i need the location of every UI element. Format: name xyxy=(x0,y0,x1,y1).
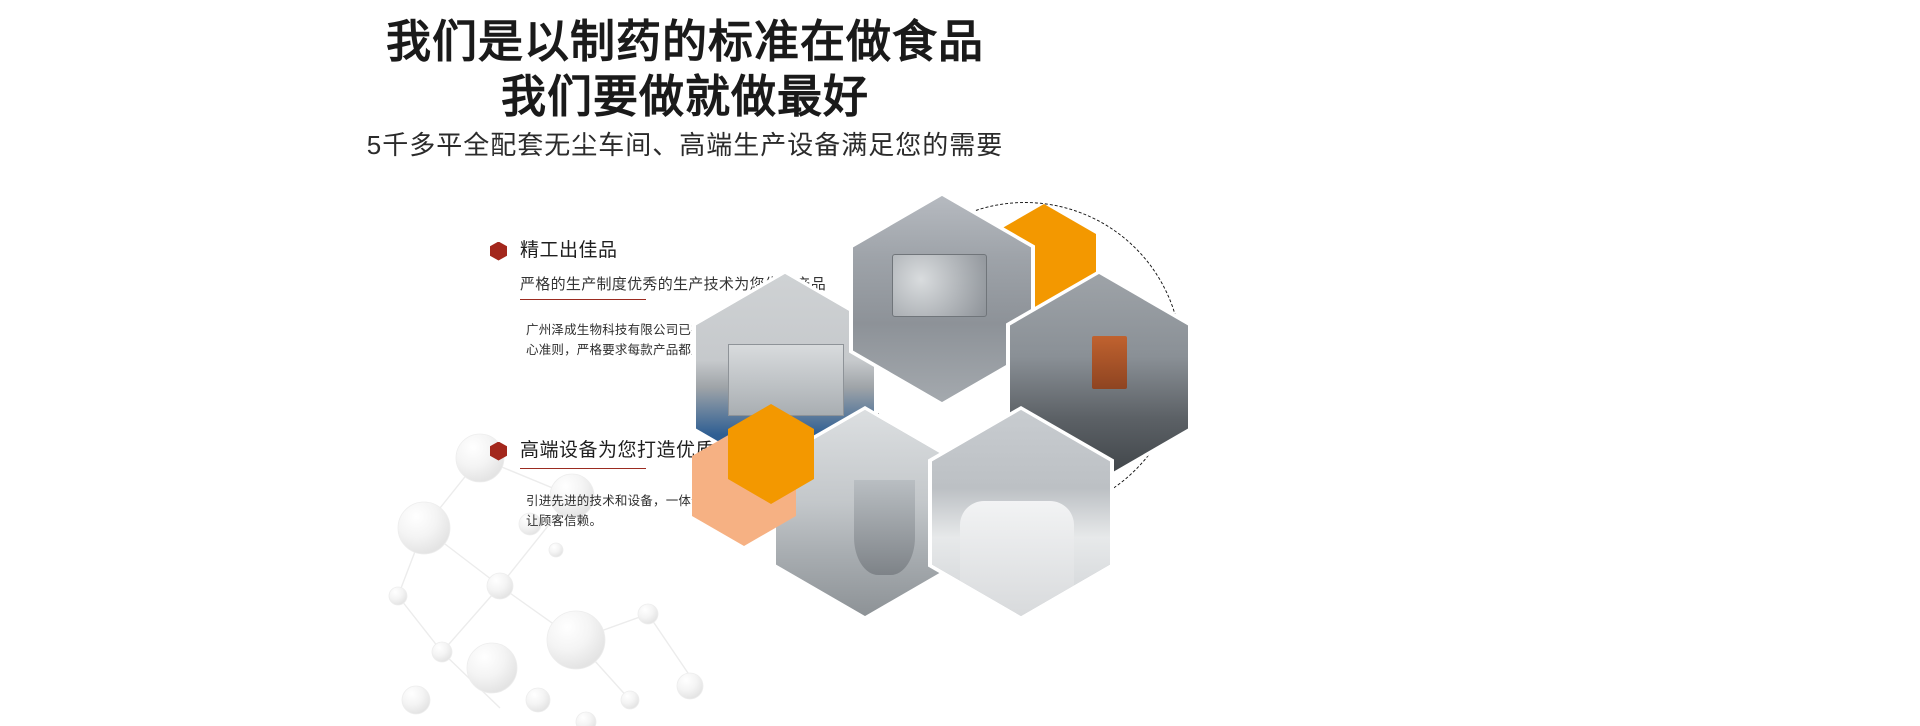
subheadline: 5千多平全配套无尘车间、高端生产设备满足您的需要 xyxy=(0,128,1370,162)
feature-1-title: 精工出佳品 xyxy=(520,240,618,262)
headline-line-2: 我们要做就做最好 xyxy=(0,69,1370,124)
banner-stage: 我们是以制药的标准在做食品 我们要做就做最好 5千多平全配套无尘车间、高端生产设… xyxy=(0,0,1920,726)
feature-2-underline xyxy=(520,468,646,469)
hexagon-bullet-icon xyxy=(490,242,507,261)
hexagon-bullet-icon xyxy=(490,442,507,461)
feature-1-underline xyxy=(520,299,646,300)
headline-line-1: 我们是以制药的标准在做食品 xyxy=(0,14,1370,69)
headline: 我们是以制药的标准在做食品 我们要做就做最好 xyxy=(0,14,1370,124)
hexagon-gallery xyxy=(690,196,1220,726)
